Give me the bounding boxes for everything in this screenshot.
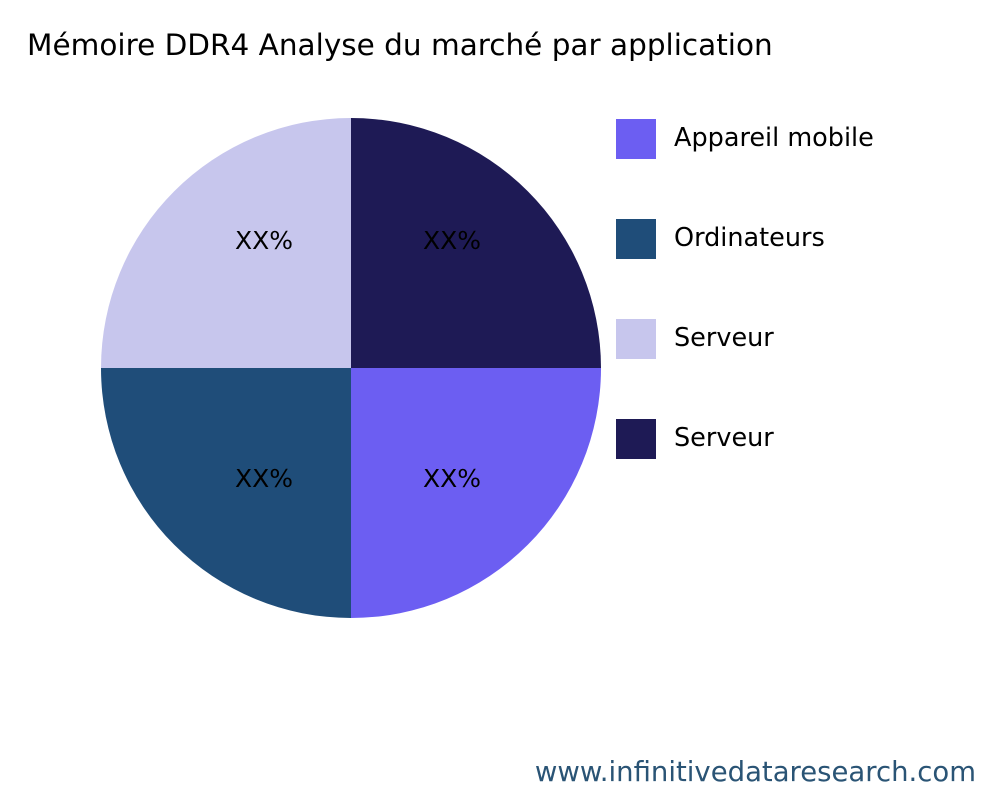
pie-slice-bottom-right[interactable]: [351, 368, 601, 618]
pie-slice-label-bottom-right: XX%: [423, 464, 481, 493]
source-url: www.infinitivedataresearch.com: [535, 753, 976, 791]
legend-swatch-icon: [616, 319, 656, 359]
legend-item-serveur-light[interactable]: Serveur: [616, 318, 986, 418]
chart-legend: Appareil mobile Ordinateurs Serveur Serv…: [616, 118, 986, 518]
legend-item-label: Appareil mobile: [674, 118, 874, 159]
pie-chart-svg: XX% XX% XX% XX%: [101, 118, 601, 618]
legend-swatch-icon: [616, 419, 656, 459]
legend-item-label: Serveur: [674, 418, 774, 459]
legend-swatch-icon: [616, 119, 656, 159]
legend-item-appareil-mobile[interactable]: Appareil mobile: [616, 118, 986, 218]
legend-item-ordinateurs[interactable]: Ordinateurs: [616, 218, 986, 318]
pie-slice-label-top-right: XX%: [423, 226, 481, 255]
pie-chart: XX% XX% XX% XX%: [101, 118, 601, 618]
pie-slice-top-left[interactable]: [101, 118, 351, 368]
legend-item-serveur-dark[interactable]: Serveur: [616, 418, 986, 518]
pie-slice-label-bottom-left: XX%: [235, 464, 293, 493]
legend-item-label: Serveur: [674, 318, 774, 359]
page-title: Mémoire DDR4 Analyse du marché par appli…: [27, 25, 947, 65]
legend-swatch-icon: [616, 219, 656, 259]
pie-slice-label-top-left: XX%: [235, 226, 293, 255]
pie-slices: [101, 118, 601, 618]
legend-item-label: Ordinateurs: [674, 218, 825, 259]
pie-slice-bottom-left[interactable]: [101, 368, 351, 618]
